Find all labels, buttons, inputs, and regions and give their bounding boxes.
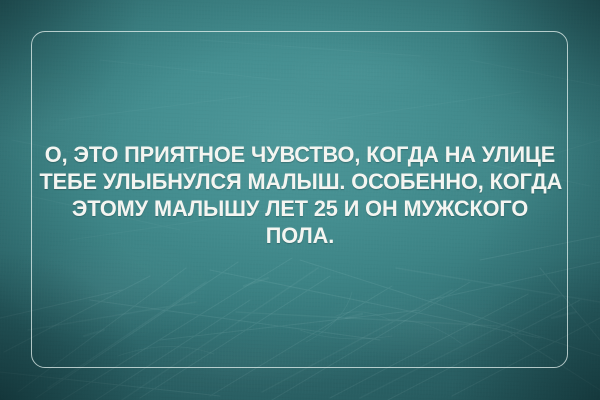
quote-line-2: ТЕБЕ УЛЫБНУЛСЯ МАЛЫШ. ОСОБЕННО, КОГДА xyxy=(39,168,560,195)
quote-text: О, ЭТО ПРИЯТНОЕ ЧУВСТВО, КОГДА НА УЛИЦЕ … xyxy=(39,141,560,249)
quote-line-3: ЭТОМУ МАЛЫШУ ЛЕТ 25 И ОН МУЖСКОГО xyxy=(39,195,560,222)
quote-card: О, ЭТО ПРИЯТНОЕ ЧУВСТВО, КОГДА НА УЛИЦЕ … xyxy=(0,0,600,400)
quote-line-4: ПОЛА. xyxy=(39,222,560,249)
quote-line-1: О, ЭТО ПРИЯТНОЕ ЧУВСТВО, КОГДА НА УЛИЦЕ xyxy=(39,141,560,168)
